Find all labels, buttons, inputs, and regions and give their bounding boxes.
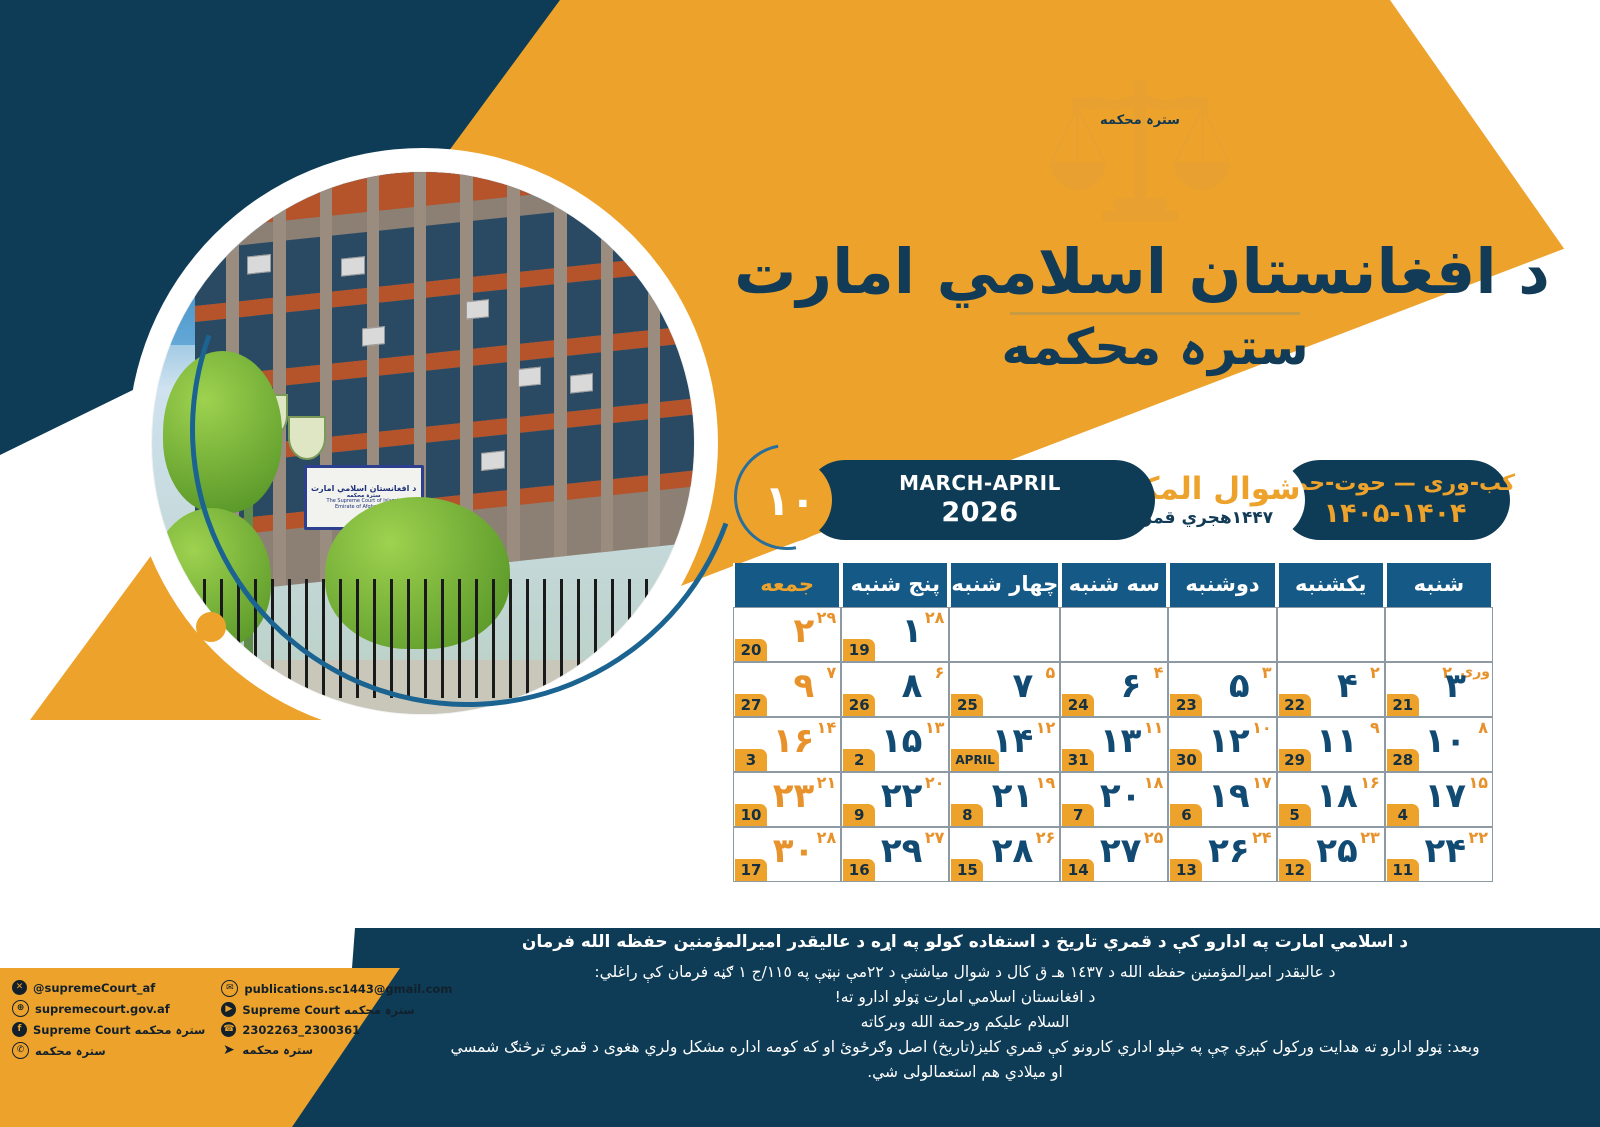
solar-day-number: ۳۰ xyxy=(773,834,815,868)
solar-day-number: ۶ xyxy=(1121,669,1142,703)
gregorian-day-badge: 6 xyxy=(1170,804,1202,826)
lunar-day-number: ۱۲ xyxy=(1036,720,1056,736)
calendar-cell[interactable]: ۲۸۳۰17 xyxy=(733,827,841,882)
lunar-day-number: ۲۸ xyxy=(817,830,837,846)
solar-day-number: ۲۲ xyxy=(881,779,923,813)
solar-day-number: ۲۳ xyxy=(773,779,815,813)
contact-row[interactable]: ⊕supremecourt.gov.af xyxy=(12,1000,205,1017)
lunar-day-number: ۲۵ xyxy=(1144,830,1164,846)
solar-day-number: ۱۶ xyxy=(773,724,815,758)
lunar-day-number: ۱۸ xyxy=(1144,775,1164,791)
gregorian-day-badge: 4 xyxy=(1387,804,1419,826)
gregorian-day-badge: 26 xyxy=(843,694,875,716)
calendar-cell[interactable]: ۱۱۱۳31 xyxy=(1060,717,1168,772)
gregorian-day-badge: 29 xyxy=(1279,749,1311,771)
supreme-court-logo: سترہ محکمه xyxy=(1030,62,1250,232)
scales-of-justice-icon: سترہ محکمه xyxy=(1030,62,1250,232)
lunar-day-number: ۱۷ xyxy=(1252,775,1272,791)
gregorian-months-label: MARCH-APRIL xyxy=(899,470,1061,497)
footer-title: د اسلامي امارت په ادارو کې د قمري تاریخ … xyxy=(350,930,1580,956)
lunar-day-number: ۷ xyxy=(826,665,836,681)
gregorian-day-badge: 30 xyxy=(1170,749,1202,771)
solar-day-number: ۱ xyxy=(902,614,923,648)
contact-row[interactable]: ✕@supremeCourt_af xyxy=(12,980,205,995)
calendar-cell-empty xyxy=(1168,607,1276,662)
organization-title: د افغانستان اسلامي امارت xyxy=(760,238,1550,306)
day-header-3: سه شنبه xyxy=(1060,563,1168,607)
solar-day-number: ۷ xyxy=(1012,669,1033,703)
footer-line-0: د عالیقدر امیرالمؤمنین حفظه الله د ١٤٣٧ … xyxy=(350,960,1580,985)
calendar-cell-empty xyxy=(1060,607,1168,662)
whatsapp-icon: ✆ xyxy=(12,1042,29,1059)
lunar-day-number: ۲۲ xyxy=(1468,830,1488,846)
calendar-cell[interactable]: ۷۹27 xyxy=(733,662,841,717)
logo-text: سترہ محکمه xyxy=(1100,113,1180,128)
solar-day-number: ۴ xyxy=(1337,669,1358,703)
lunar-day-number: ۶ xyxy=(935,665,945,681)
calendar-grid: شنبهیکشنبهدوشنبهسه شنبهچهار شنبهپنج شنبه… xyxy=(733,563,1493,882)
calendar-cell[interactable]: ۴۶24 xyxy=(1060,662,1168,717)
youtube-icon: ▶ xyxy=(221,1002,236,1017)
phone-icon: ☎ xyxy=(221,1022,236,1037)
calendar-cell[interactable]: ۲۶۲۸15 xyxy=(949,827,1060,882)
gregorian-day-badge: 21 xyxy=(1387,694,1419,716)
solar-day-number: ۲ xyxy=(793,614,814,648)
calendar-cell[interactable]: ۸۱۰28 xyxy=(1385,717,1493,772)
solar-day-number: ۸ xyxy=(902,669,923,703)
day-header-1: یکشنبه xyxy=(1277,563,1385,607)
solar-day-number: ۲۶ xyxy=(1208,834,1250,868)
gregorian-day-badge: 23 xyxy=(1170,694,1202,716)
solar-day-number: ۱۰ xyxy=(1424,724,1466,758)
contact-row[interactable]: ▶Supreme Court سترہ محکمه xyxy=(221,1002,452,1017)
gregorian-day-badge: 8 xyxy=(951,804,983,826)
calendar-cell[interactable]: ۱۲۱۴APRIL xyxy=(949,717,1060,772)
lunar-day-number: ۲۱ xyxy=(817,775,837,791)
solar-day-number: ۳ xyxy=(1445,669,1466,703)
solar-day-number: ۵ xyxy=(1229,669,1250,703)
contact-block: ✕@supremeCourt_af⊕supremecourt.gov.affSu… xyxy=(12,980,342,1059)
calendar-cell[interactable]: ۳۵23 xyxy=(1168,662,1276,717)
gregorian-day-badge: 11 xyxy=(1387,859,1419,881)
calendar-cell[interactable]: ۲۳۲۵12 xyxy=(1277,827,1385,882)
email-icon: ✉ xyxy=(221,980,238,997)
lunar-day-number: ۴ xyxy=(1154,665,1164,681)
calendar-cell[interactable]: ۱۸۲۰7 xyxy=(1060,772,1168,827)
calendar-cell[interactable]: ۲۷۲۹16 xyxy=(841,827,949,882)
contact-text: سترہ محکمه xyxy=(35,1044,106,1058)
contact-column-1: ✕@supremeCourt_af⊕supremecourt.gov.affSu… xyxy=(12,980,205,1059)
calendar-cell[interactable]: ۲۸۱19 xyxy=(841,607,949,662)
calendar-cell-empty xyxy=(1385,607,1493,662)
contact-row[interactable]: ☎2302263_2300361 xyxy=(221,1022,452,1037)
gregorian-day-badge: 7 xyxy=(1062,804,1094,826)
lunar-day-number: ۲۶ xyxy=(1036,830,1056,846)
gregorian-day-badge: 22 xyxy=(1279,694,1311,716)
gregorian-day-badge: 15 xyxy=(951,859,983,881)
day-header-2: دوشنبه xyxy=(1168,563,1276,607)
calendar-cell[interactable]: ۱۶۱۸5 xyxy=(1277,772,1385,827)
gregorian-month-pill: MARCH-APRIL 2026 xyxy=(805,460,1155,540)
lunar-day-number: ۲۰ xyxy=(925,775,945,791)
lunar-day-number: ۲ xyxy=(1370,665,1380,681)
lunar-day-number: ۱۶ xyxy=(1360,775,1380,791)
contact-text: سترہ محکمه xyxy=(242,1043,313,1057)
calendar-cell[interactable]: ۲۲۲۴11 xyxy=(1385,827,1493,882)
calendar-cell[interactable]: ۱۵۱۷4 xyxy=(1385,772,1493,827)
solar-day-number: ۲۴ xyxy=(1424,834,1466,868)
solar-day-number: ۱۸ xyxy=(1316,779,1358,813)
globe-icon: ⊕ xyxy=(12,1000,29,1017)
lunar-day-number: ۲۳ xyxy=(1360,830,1380,846)
day-header-6: جمعه xyxy=(733,563,841,607)
lunar-day-number: ۱۳ xyxy=(925,720,945,736)
gregorian-day-badge: APRIL xyxy=(951,749,998,771)
gregorian-day-badge: 25 xyxy=(951,694,983,716)
solar-month-pill: کب-وری — حوت-حمل ۱۴۰۵-۱۴۰۴ xyxy=(1280,460,1510,540)
calendar-cell[interactable]: ۱۳۱۵2 xyxy=(841,717,949,772)
solar-day-number: ۲۵ xyxy=(1316,834,1358,868)
lunar-day-number: ۱۱ xyxy=(1144,720,1164,736)
footer-line-1: د افغانستان اسلامي امارت ټولو ادارو ته! xyxy=(350,985,1580,1010)
contact-text: Supreme Court سترہ محکمه xyxy=(33,1023,205,1037)
footer-line-4: او میلادي هم استعمالولی شي. xyxy=(350,1060,1580,1085)
facebook-icon: f xyxy=(12,1022,27,1037)
gregorian-day-badge: 5 xyxy=(1279,804,1311,826)
solar-day-number: ۱۵ xyxy=(881,724,923,758)
calendar-cell[interactable]: ۱۷۱۹6 xyxy=(1168,772,1276,827)
solar-day-number: ۲۱ xyxy=(992,779,1034,813)
contact-column-2: ✉publications.sc1443@gmail.com▶Supreme C… xyxy=(221,980,452,1059)
calendar-cell[interactable]: ۲۰۲۲9 xyxy=(841,772,949,827)
contact-row[interactable]: fSupreme Court سترہ محکمه xyxy=(12,1022,205,1037)
contact-row[interactable]: ✆سترہ محکمه xyxy=(12,1042,205,1059)
calendar-cell-empty xyxy=(1277,607,1385,662)
solar-day-number: ۱۱ xyxy=(1316,724,1358,758)
calendar-cell[interactable]: ۵۷25 xyxy=(949,662,1060,717)
lunar-day-number: ۱۴ xyxy=(817,720,837,736)
gregorian-day-badge: 20 xyxy=(735,639,767,661)
gregorian-day-badge: 12 xyxy=(1279,859,1311,881)
solar-day-number: ۹ xyxy=(793,669,814,703)
contact-text: @supremeCourt_af xyxy=(33,981,155,995)
solar-day-number: ۱۳ xyxy=(1100,724,1142,758)
organization-subtitle: سترہ محکمه xyxy=(760,319,1550,377)
month-bar: کب-وری — حوت-حمل ۱۴۰۵-۱۴۰۴ شوال المکرم ۱… xyxy=(745,455,1510,545)
calendar-cell[interactable]: ۲۱۲۳10 xyxy=(733,772,841,827)
lunar-day-number: ۵ xyxy=(1045,665,1055,681)
gregorian-day-badge: 10 xyxy=(735,804,767,826)
gregorian-day-badge: 14 xyxy=(1062,859,1094,881)
calendar-cell-empty xyxy=(949,607,1060,662)
day-header-5: پنج شنبه xyxy=(841,563,949,607)
contact-text: supremecourt.gov.af xyxy=(35,1002,170,1016)
solar-day-number: ۲۰ xyxy=(1100,779,1142,813)
footer-line-2: السلام علیکم ورحمة الله وبرکاته xyxy=(350,1010,1580,1035)
calendar-cell[interactable]: ۲۹۲20 xyxy=(733,607,841,662)
calendar-cell[interactable]: ۲۴22 xyxy=(1277,662,1385,717)
month-number-badge: ۱۰ xyxy=(748,458,832,542)
day-header-0: شنبه xyxy=(1385,563,1493,607)
contact-text: 2302263_2300361 xyxy=(242,1023,360,1037)
contact-text: Supreme Court سترہ محکمه xyxy=(242,1003,414,1017)
contact-row[interactable]: ➤سترہ محکمه xyxy=(221,1042,452,1057)
lunar-day-number: ۲۴ xyxy=(1252,830,1272,846)
lunar-day-number: ۱۹ xyxy=(1036,775,1056,791)
calendar-cell[interactable]: ۱۹۲۱8 xyxy=(949,772,1060,827)
contact-text: publications.sc1443@gmail.com xyxy=(244,982,452,996)
lunar-day-number: ۱۰ xyxy=(1252,720,1272,736)
decorative-dot-bottom xyxy=(196,612,226,642)
solar-day-number: ۱۷ xyxy=(1424,779,1466,813)
gregorian-day-badge: 2 xyxy=(843,749,875,771)
calendar-cell[interactable]: ۲۴۲۶13 xyxy=(1168,827,1276,882)
solar-months-label: کب-وری — حوت-حمل xyxy=(1275,470,1515,498)
footer-decree-text: د اسلامي امارت په ادارو کې د قمري تاریخ … xyxy=(350,930,1580,1085)
gregorian-day-badge: 19 xyxy=(843,639,875,661)
solar-day-number: ۲۸ xyxy=(992,834,1034,868)
gregorian-year-label: 2026 xyxy=(941,497,1018,529)
gregorian-day-badge: 13 xyxy=(1170,859,1202,881)
solar-day-number: ۲۹ xyxy=(881,834,923,868)
calendar-cell[interactable]: ۲۵۲۷14 xyxy=(1060,827,1168,882)
calendar-cell[interactable]: ۱۰۱۲30 xyxy=(1168,717,1276,772)
decorative-dot-top xyxy=(617,167,649,199)
title-divider xyxy=(1010,312,1300,315)
lunar-day-number: ۲۸ xyxy=(925,610,945,626)
solar-day-number: ۱۲ xyxy=(1208,724,1250,758)
calendar-cell[interactable]: ۱۴۱۶3 xyxy=(733,717,841,772)
gregorian-day-badge: 3 xyxy=(735,749,767,771)
solar-day-number: ۲۷ xyxy=(1100,834,1142,868)
gregorian-day-badge: 9 xyxy=(843,804,875,826)
x-twitter-icon: ✕ xyxy=(12,980,27,995)
gregorian-day-badge: 27 xyxy=(735,694,767,716)
solar-years-label: ۱۴۰۵-۱۴۰۴ xyxy=(1323,498,1466,530)
gregorian-day-badge: 24 xyxy=(1062,694,1094,716)
calendar-cell[interactable]: ۹۱۱29 xyxy=(1277,717,1385,772)
lunar-day-number: ۸ xyxy=(1478,720,1488,736)
lunar-day-number: ۹ xyxy=(1370,720,1380,736)
calendar-cell[interactable]: ۶۸26 xyxy=(841,662,949,717)
lunar-day-number: ۲۷ xyxy=(925,830,945,846)
contact-row[interactable]: ✉publications.sc1443@gmail.com xyxy=(221,980,452,997)
calendar-cell[interactable]: وری۲۳21 xyxy=(1385,662,1493,717)
footer-lines: د عالیقدر امیرالمؤمنین حفظه الله د ١٤٣٧ … xyxy=(350,960,1580,1086)
telegram-icon: ➤ xyxy=(221,1042,236,1057)
footer-line-3: وبعد: ټولو ادارو ته هدایت ورکول کېږي چې … xyxy=(350,1035,1580,1060)
day-header-4: چهار شنبه xyxy=(949,563,1060,607)
gregorian-day-badge: 28 xyxy=(1387,749,1419,771)
gregorian-day-badge: 16 xyxy=(843,859,875,881)
lunar-day-number: ۱۵ xyxy=(1468,775,1488,791)
solar-day-number: ۱۹ xyxy=(1208,779,1250,813)
title-block: د افغانستان اسلامي امارت سترہ محکمه xyxy=(760,238,1550,377)
gregorian-day-badge: 17 xyxy=(735,859,767,881)
lunar-day-number: ۳ xyxy=(1262,665,1272,681)
lunar-day-number: ۲۹ xyxy=(817,610,837,626)
gregorian-day-badge: 31 xyxy=(1062,749,1094,771)
